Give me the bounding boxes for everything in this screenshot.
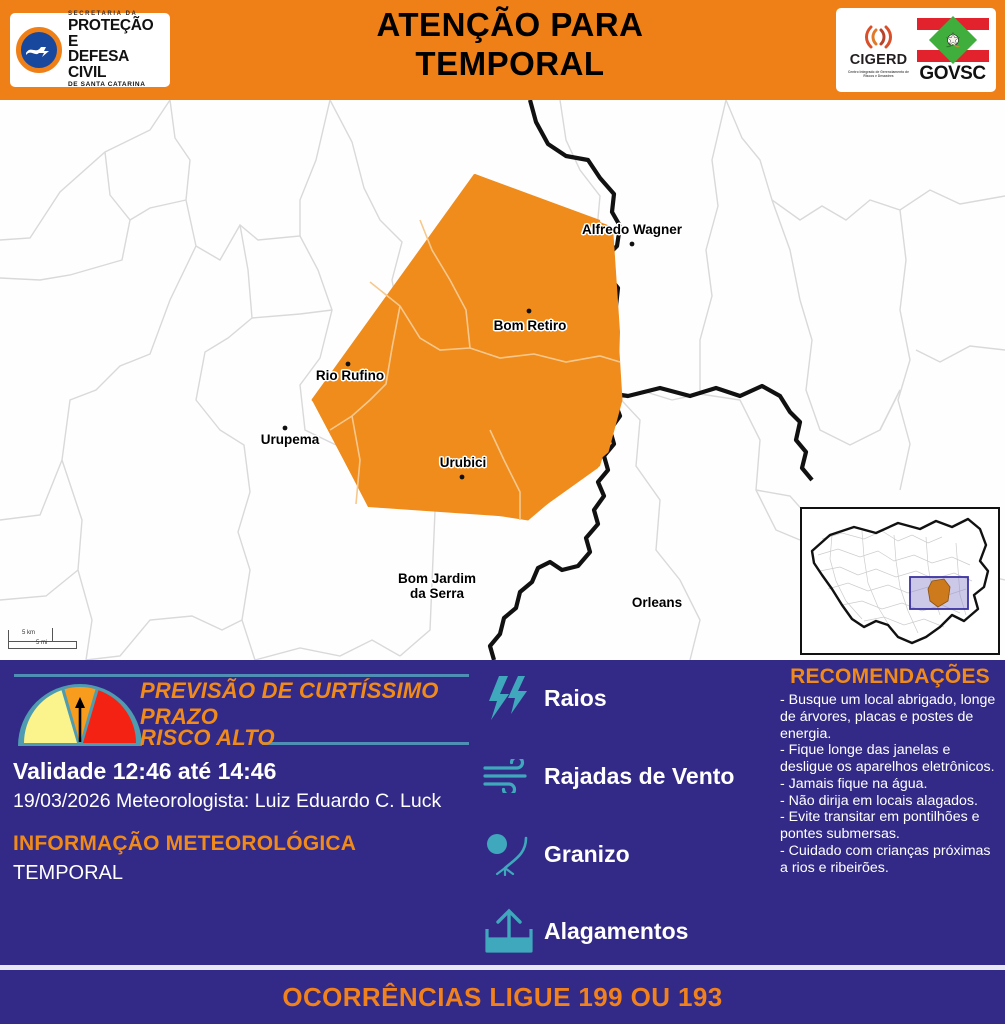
info-panel: PREVISÃO DE CURTÍSSIMO PRAZO RISCO ALTO … (0, 660, 1005, 965)
recommendation-item: - Evite transitar em pontilhões e pontes… (780, 809, 1002, 843)
santa-catarina-flag-icon (917, 18, 989, 62)
govsc-sc: SC (960, 63, 985, 84)
forecast-title: PREVISÃO DE CURTÍSSIMO PRAZO (140, 678, 460, 730)
recommendation-item: - Fique longe das janelas e desligue os … (780, 742, 1002, 776)
divider-top (14, 674, 469, 677)
cigerd-waves-icon (859, 22, 899, 52)
recommendations-title: RECOMENDAÇÕES (775, 665, 1005, 689)
scalebar-km: 5 km (22, 630, 35, 636)
hail-icon (478, 828, 540, 880)
page-title: ATENÇÃO PARA TEMPORAL (200, 6, 820, 84)
city-label-bom-retiro: Bom Retiro (494, 318, 567, 333)
hazards-column: Raios Rajadas de Vento (470, 660, 770, 965)
risk-level-label: RISCO ALTO (140, 725, 275, 751)
divider-risk (262, 742, 469, 745)
hazard-label: Rajadas de Vento (544, 763, 734, 790)
flood-icon (478, 905, 540, 957)
partner-logos: CIGERD Centro Integrado de Gerenciamento… (836, 8, 996, 92)
meteorologist-line: 19/03/2026 Meteorologista: Luiz Eduardo … (13, 790, 441, 813)
title-line-1: ATENÇÃO PARA (200, 6, 820, 45)
recommendation-item: - Busque um local abrigado, longe de árv… (780, 692, 1002, 742)
cigerd-subtitle: Centro Integrado de Gerenciamento de Ris… (843, 70, 915, 78)
city-label-bom-jardim-da-serra: Bom Jardimda Serra (398, 571, 476, 601)
cigerd-logo: CIGERD Centro Integrado de Gerenciamento… (843, 22, 915, 78)
logo-line-santa-catarina: DE SANTA CATARINA (68, 82, 164, 89)
lightning-bolts-icon (478, 672, 540, 724)
hazard-rajadas-de-vento: Rajadas de Vento (478, 748, 768, 804)
forecast-column: PREVISÃO DE CURTÍSSIMO PRAZO RISCO ALTO … (0, 660, 470, 965)
alert-map[interactable]: Alfredo Wagner Bom Retiro Rio Rufino Uru… (0, 100, 1005, 660)
hazard-granizo: Granizo (478, 826, 768, 882)
meteorological-info-body: TEMPORAL (13, 862, 123, 885)
city-label-alfredo-wagner: Alfredo Wagner (582, 222, 682, 237)
city-label-orleans: Orleans (632, 595, 682, 610)
hazard-label: Raios (544, 685, 607, 712)
civil-defense-logo-text: SECRETARIA DA PROTEÇÃO E DEFESA CIVIL DE… (68, 11, 164, 89)
recommendations-list: - Busque um local abrigado, longe de árv… (780, 692, 1002, 876)
city-label-urupema: Urupema (261, 432, 320, 447)
hazard-raios: Raios (478, 670, 768, 726)
alert-bulletin: SECRETARIA DA PROTEÇÃO E DEFESA CIVIL DE… (0, 0, 1005, 1024)
validity-text: Validade 12:46 até 14:46 (13, 758, 276, 785)
hazard-label: Granizo (544, 841, 630, 868)
logo-line-protecao: PROTEÇÃO E (68, 18, 164, 49)
civil-defense-emblem-icon (16, 27, 62, 73)
govsc-wordmark: GOVSC (919, 64, 985, 83)
city-label-urubici: Urubici (440, 455, 487, 470)
recommendation-item: - Cuidado com crianças próximas a rios e… (780, 843, 1002, 877)
recommendations-column: RECOMENDAÇÕES - Busque um local abrigado… (775, 660, 1005, 965)
hazard-alagamentos: Alagamentos (478, 903, 768, 959)
title-line-2: TEMPORAL (200, 45, 820, 84)
govsc-gov: GOV (919, 63, 960, 84)
recommendation-item: - Não dirija em locais alagados. (780, 793, 1002, 810)
scalebar-mi: 5 mi (36, 640, 47, 646)
cigerd-name: CIGERD (850, 53, 908, 68)
map-scalebar: 5 km 5 mi (8, 624, 103, 652)
meteorological-info-heading: INFORMAÇÃO METEOROLÓGICA (13, 832, 356, 856)
civil-defense-logo: SECRETARIA DA PROTEÇÃO E DEFESA CIVIL DE… (10, 13, 170, 87)
header-bar: SECRETARIA DA PROTEÇÃO E DEFESA CIVIL DE… (0, 0, 1005, 100)
wind-gust-icon (478, 750, 540, 802)
emergency-phone-text: OCORRÊNCIAS LIGUE 199 OU 193 (282, 982, 722, 1013)
city-label-rio-rufino: Rio Rufino (316, 368, 384, 383)
logo-line-defesa-civil: DEFESA CIVIL (68, 49, 164, 80)
recommendation-item: - Jamais fique na água. (780, 776, 1002, 793)
santa-catarina-locator-inset (800, 507, 1000, 655)
footer-bar: OCORRÊNCIAS LIGUE 199 OU 193 (0, 970, 1005, 1024)
hazard-label: Alagamentos (544, 918, 688, 945)
risk-gauge-icon (16, 682, 144, 748)
govsc-logo: GOVSC (916, 18, 990, 83)
